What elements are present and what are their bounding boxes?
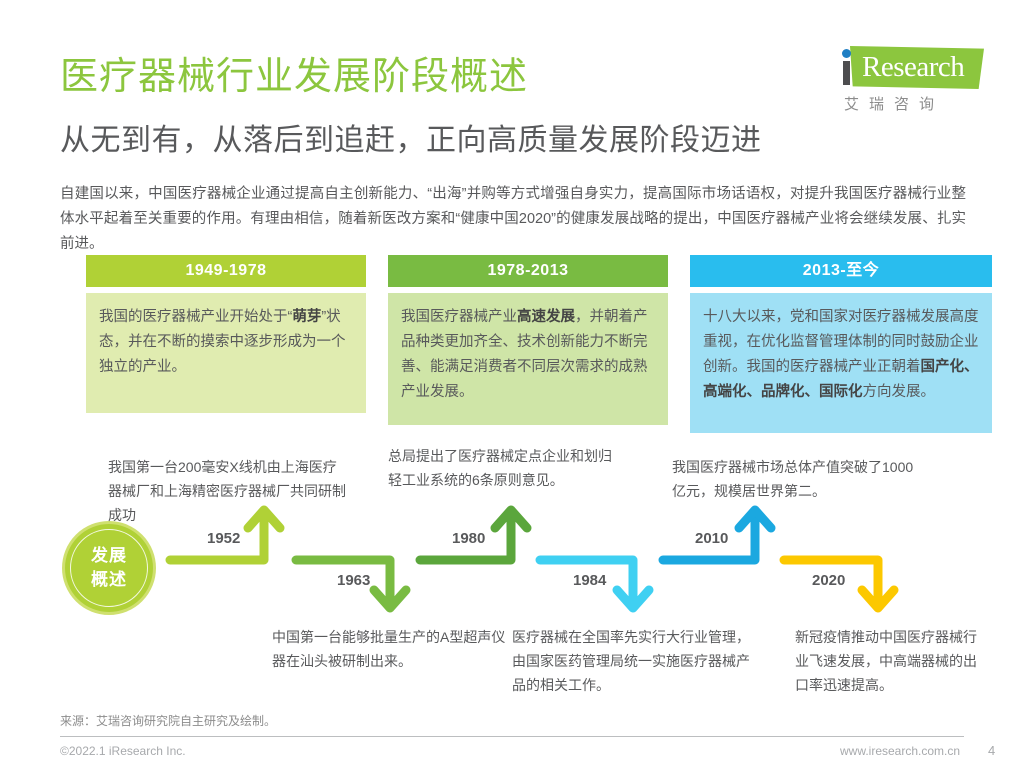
page-title: 医疗器械行业发展阶段概述 (60, 54, 528, 100)
timeline-note-2010: 我国医疗器械市场总体产值突破了1000亿元，规模居世界第二。 (672, 455, 917, 503)
phase-column-3: 2013-至今 十八大以来，党和国家对医疗器械发展高度重视，在优化监督管理体制的… (690, 255, 992, 433)
logo-chinese-name: 艾瑞咨询 (844, 93, 944, 114)
timeline-year-2020: 2020 (812, 572, 845, 589)
timeline-year-1952: 1952 (207, 530, 240, 547)
phase-body-3-suffix: 方向发展。 (863, 384, 936, 400)
timeline-year-1980: 1980 (452, 530, 485, 547)
timeline-note-1980: 总局提出了医疗器械定点企业和划归轻工业系统的6条原则意见。 (388, 444, 623, 492)
page-number: 4 (988, 743, 995, 758)
intro-paragraph: 自建国以来，中国医疗器械企业通过提高自主创新能力、“出海”并购等方式增强自身实力… (60, 182, 966, 257)
phase-column-1: 1949-1978 我国的医疗器械产业开始处于“萌芽”状态，并在不断的摸索中逐步… (86, 255, 366, 433)
timeline-badge-line2: 概述 (91, 568, 127, 592)
timeline-badge-line1: 发展 (91, 544, 127, 568)
logo-i-dot-icon (842, 49, 851, 58)
timeline-note-1963: 中国第一台能够批量生产的A型超声仪器在汕头被研制出来。 (272, 625, 507, 673)
footer-divider (60, 736, 964, 737)
timeline-note-1984: 医疗器械在全国率先实行大行业管理，由国家医药管理局统一实施医疗器械产品的相关工作… (512, 625, 752, 697)
logo-i-stem-icon (843, 61, 850, 85)
timeline-badge: 发展 概述 (62, 521, 156, 615)
timeline-year-1963: 1963 (337, 572, 370, 589)
phase-period-3: 2013-至今 (690, 255, 992, 287)
phase-body-1-bold: 萌芽 (292, 309, 321, 325)
phase-period-1: 1949-1978 (86, 255, 366, 287)
timeline-note-1952: 我国第一台200毫安X线机由上海医疗器械厂和上海精密医疗器械厂共同研制成功 (108, 455, 348, 527)
timeline-year-2010: 2010 (695, 530, 728, 547)
phase-columns: 1949-1978 我国的医疗器械产业开始处于“萌芽”状态，并在不断的摸索中逐步… (86, 255, 968, 433)
timeline-year-1984: 1984 (573, 572, 606, 589)
phase-body-2-bold: 高速发展 (517, 309, 575, 325)
logo-mark: Research (818, 46, 986, 90)
website-url: www.iresearch.com.cn (840, 744, 960, 758)
phase-column-2: 1978-2013 我国医疗器械产业高速发展，并朝着产品种类更加齐全、技术创新能… (388, 255, 668, 433)
phase-body-1: 我国的医疗器械产业开始处于“萌芽”状态，并在不断的摸索中逐步形成为一个独立的产业… (86, 293, 366, 413)
logo-wordmark: Research (862, 51, 964, 83)
phase-body-2-prefix: 我国医疗器械产业 (401, 309, 517, 325)
copyright-text: ©2022.1 iResearch Inc. (60, 744, 186, 758)
page-subtitle: 从无到有，从落后到追赶，正向高质量发展阶段迈进 (60, 122, 762, 160)
source-note: 来源：艾瑞咨询研究院自主研究及绘制。 (60, 712, 276, 729)
phase-body-1-prefix: 我国的医疗器械产业开始处于“ (99, 309, 292, 325)
phase-body-3: 十八大以来，党和国家对医疗器械发展高度重视，在优化监督管理体制的同时鼓励企业创新… (690, 293, 992, 433)
iresearch-logo: Research 艾瑞咨询 (818, 46, 988, 118)
timeline-note-2020: 新冠疫情推动中国医疗器械行业飞速发展，中高端器械的出口率迅速提高。 (795, 625, 980, 697)
phase-period-2: 1978-2013 (388, 255, 668, 287)
phase-body-2: 我国医疗器械产业高速发展，并朝着产品种类更加齐全、技术创新能力不断完善、能满足消… (388, 293, 668, 425)
